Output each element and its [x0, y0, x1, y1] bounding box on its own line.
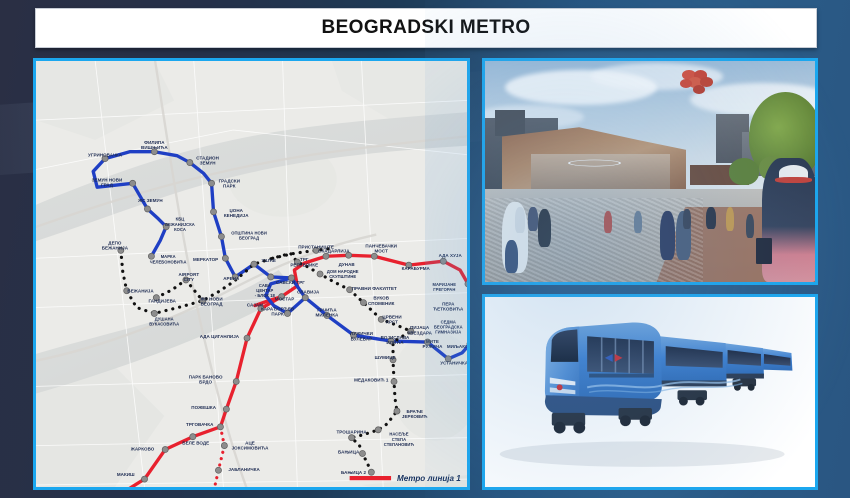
metro-map-svg[interactable]: УГРИНОВАЧКАФИЛИПАВИШЊИЋАСТАДИОНЗЕМУНГРАД…: [36, 61, 467, 487]
train-car-2: [660, 336, 727, 386]
station-label: САВСКИ ТРГ: [276, 280, 305, 285]
station-dot[interactable]: [221, 443, 227, 449]
station-label: КАРАБУРМА: [402, 266, 431, 271]
station-label: ДУНАВ: [339, 262, 356, 267]
bag-icon: [756, 238, 773, 265]
station-label: ГРЧИЋАМИЛЕНКА: [316, 307, 340, 317]
cap-brim-icon: [775, 177, 811, 183]
station-dot[interactable]: [218, 233, 224, 239]
ring-light-icon: [568, 159, 621, 166]
station-label: МОСТАР: [275, 297, 294, 302]
station-label: ГАНДИЈЕВА: [148, 299, 176, 304]
person-figure: [660, 211, 675, 260]
person-figure: [538, 209, 551, 247]
station-label: ЈАБЛАНИЧКА: [228, 467, 260, 472]
station-dot[interactable]: [371, 253, 377, 259]
station-dot[interactable]: [394, 408, 400, 414]
metro-map-panel[interactable]: УГРИНОВАЧКАФИЛИПАВИШЊИЋАСТАДИОНЗЕМУНГРАД…: [33, 58, 470, 490]
train-lead-car: [545, 322, 662, 415]
person-figure: [726, 207, 735, 231]
station-dot[interactable]: [359, 450, 365, 456]
station-label: БАЊИЦА: [338, 449, 360, 454]
station-dot[interactable]: [187, 160, 193, 166]
station-dot[interactable]: [190, 434, 196, 440]
legend-label-line-1: Метро линија 1: [397, 474, 461, 483]
metro-train-rendering: [485, 297, 815, 490]
station-label: УГРИНОВАЧКА: [88, 153, 123, 158]
station-dot[interactable]: [302, 295, 308, 301]
station-label: ФИЛИПАВИШЊИЋА: [141, 140, 168, 150]
station-dot[interactable]: [391, 378, 397, 384]
person-figure: [683, 209, 691, 229]
front-marker-light: [557, 384, 563, 390]
station-label: ПИЈАЦАЗВЕЗДАРА: [407, 325, 432, 335]
person-figure: [505, 240, 518, 273]
station-dot[interactable]: [141, 476, 147, 482]
building-left-block: [495, 110, 525, 137]
station-dot[interactable]: [217, 424, 223, 430]
station-dot[interactable]: [162, 446, 168, 452]
station-label: УСТАНИЧКА: [440, 361, 467, 366]
station-label: ЖС ЗЕМУН: [137, 198, 163, 203]
train-shadow: [500, 441, 785, 467]
person-figure: [515, 207, 525, 234]
station-label: УШЋЕ: [262, 258, 277, 263]
train-car-3: [724, 343, 764, 378]
presentation-slide: BEOGRADSKI METRO: [0, 0, 850, 498]
station-label: ТРГОВАЧКА: [186, 422, 214, 427]
station-label: БЕЖАНИЈА: [127, 289, 154, 294]
station-dot[interactable]: [222, 255, 228, 261]
station-label: ДОМ НАРОДНЕСКУПШТИНЕ: [327, 269, 359, 279]
station-dot[interactable]: [210, 209, 216, 215]
station-label: СКАДАРЛИЈА: [318, 248, 350, 253]
station-dot[interactable]: [375, 427, 381, 433]
station-dot[interactable]: [223, 406, 229, 412]
balloon-cluster: [680, 70, 720, 99]
station-dot[interactable]: [349, 435, 355, 441]
tree-icon: [729, 158, 759, 185]
station-label: ПРАВНИ ФАКУЛТЕТ: [352, 286, 397, 291]
station-dot[interactable]: [251, 261, 257, 267]
page-title: BEOGRADSKI METRO: [321, 17, 530, 39]
station-dot[interactable]: [215, 467, 221, 473]
metro-train-rendering-panel[interactable]: [482, 294, 818, 490]
person-figure: [528, 207, 538, 231]
station-label: МИЉАКОВО: [447, 344, 467, 349]
station-dot[interactable]: [268, 274, 274, 280]
person-figure: [706, 207, 716, 229]
station-label: ТРОШАРИНА: [336, 430, 367, 435]
station-dot[interactable]: [323, 253, 329, 259]
station-dot[interactable]: [130, 180, 136, 186]
person-figure: [634, 211, 643, 233]
station-dot[interactable]: [244, 335, 250, 341]
station-dot[interactable]: [144, 206, 150, 212]
door-strip: [589, 374, 654, 378]
station-label: БЕЛЕ ВОДЕ: [182, 441, 209, 446]
station-label: ЛУЖИЧКИБУЛЕВАР: [350, 331, 373, 341]
station-label: ЖАРКОВО: [130, 447, 155, 452]
station-square-rendering: [485, 61, 815, 282]
station-dot[interactable]: [360, 300, 366, 306]
station-label: МЕРКАТОР: [193, 257, 218, 262]
station-dot[interactable]: [368, 469, 374, 475]
station-label: ПОЖЕШКА: [191, 405, 216, 410]
station-label: БАЊИЦА 2: [341, 470, 367, 475]
station-label: АРЕНА: [223, 276, 240, 281]
station-label: СЛАВИЈА: [297, 290, 320, 295]
person-figure: [746, 214, 755, 238]
station-dot[interactable]: [208, 180, 214, 186]
station-label: МАКИШ: [117, 472, 135, 477]
station-label: ШУМИЦЕ: [375, 355, 396, 360]
station-square-rendering-panel[interactable]: [482, 58, 818, 285]
person-figure: [604, 211, 613, 233]
station-label: МЕДАКОВИЋ 1: [354, 377, 389, 382]
station-dot[interactable]: [233, 378, 239, 384]
slide-title-bar: BEOGRADSKI METRO: [35, 8, 817, 48]
station-label: ЖС НОВИБЕОГРАД: [200, 297, 224, 307]
station-label: МАРИЈАНЕГРЕГОРАН: [433, 282, 457, 292]
station-dot[interactable]: [440, 258, 446, 264]
station-label: АДА ЦИГАНЛИЈА: [200, 334, 240, 339]
station-label: АДА ХУЈА: [439, 253, 463, 258]
station-dot[interactable]: [317, 271, 323, 277]
station-label: СТАДИОНЗЕМУН: [196, 156, 219, 166]
